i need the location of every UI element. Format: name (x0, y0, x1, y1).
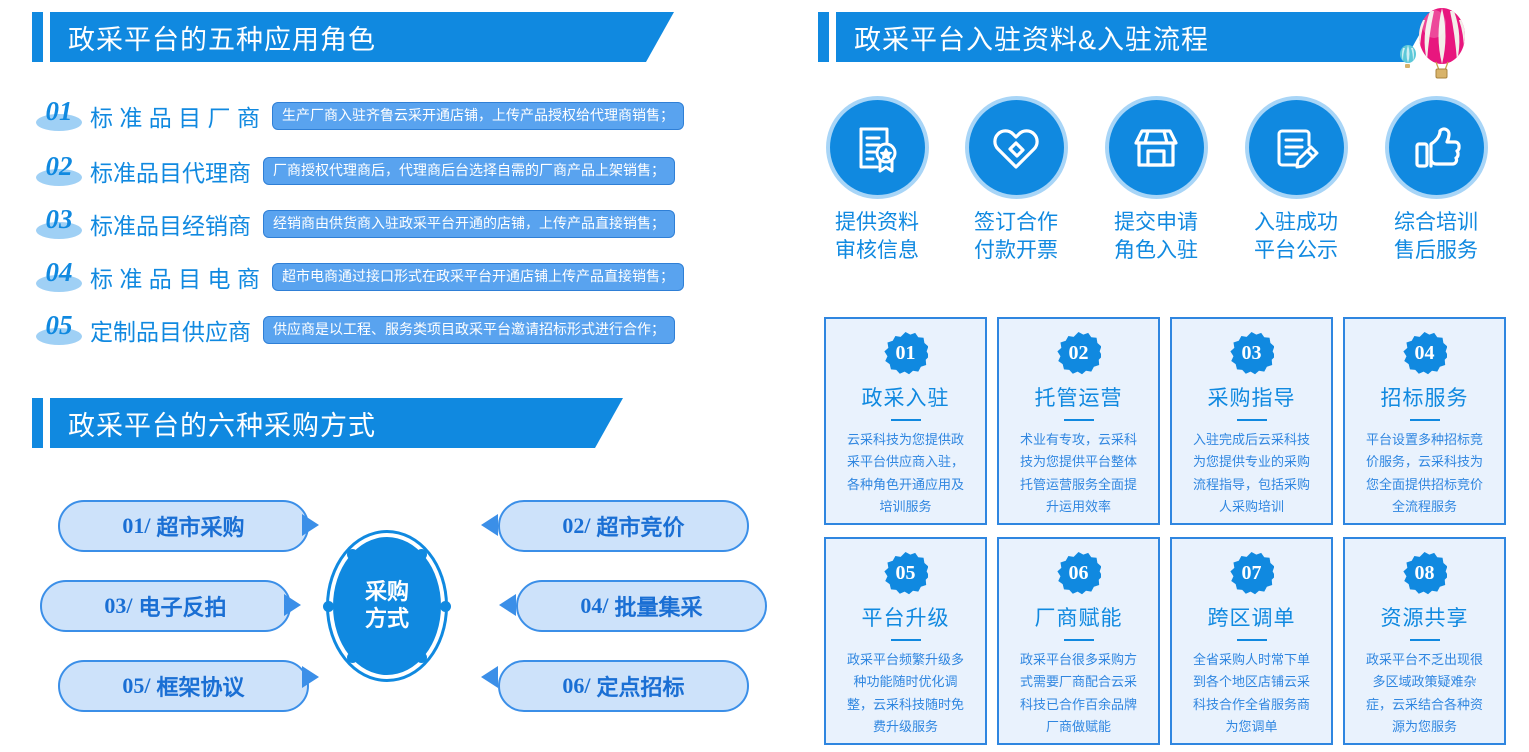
card-number: 06 (1069, 563, 1089, 583)
hub-label-line2: 方式 (365, 606, 409, 633)
card-number: 07 (1242, 563, 1262, 583)
process-caption-line2: 审核信息 (827, 237, 927, 265)
process-step-5[interactable]: 综合培训 售后服务 (1386, 100, 1486, 264)
method-number: 04/ (580, 593, 608, 619)
card-divider (1064, 639, 1094, 641)
method-label: 批量集采 (615, 590, 703, 622)
process-step-2[interactable]: 签订合作 付款开票 (966, 100, 1066, 264)
section-banner-roles: 政采平台的五种应用角色 (32, 12, 674, 62)
service-card[interactable]: 02 托管运营 术业有专攻，云采科技为您提供平台整体托管运营服务全面提升运用效率 (997, 317, 1160, 525)
role-number: 04 (32, 258, 86, 296)
card-divider (1410, 639, 1440, 641)
document-edit-icon (1249, 100, 1344, 195)
service-card[interactable]: 05 平台升级 政采平台频繁升级多种功能随时优化调整，云采科技随时免费升级服务 (824, 537, 987, 745)
card-title: 政采入驻 (862, 382, 950, 412)
role-number: 01 (32, 97, 86, 135)
card-number: 05 (896, 563, 916, 583)
card-badge: 06 (1057, 552, 1101, 596)
card-badge: 05 (884, 552, 928, 596)
method-pill-04[interactable]: 04/ 批量集采 (516, 580, 767, 632)
method-pill-02[interactable]: 02/ 超市竞价 (498, 500, 749, 552)
role-description-pill: 生产厂商入驻齐鲁云采开通店铺，上传产品授权给代理商销售； (272, 102, 684, 129)
method-label: 定点招标 (597, 670, 685, 702)
role-number-text: 01 (32, 96, 86, 127)
method-label: 电子反拍 (139, 590, 227, 622)
thumbs-up-icon (1389, 100, 1484, 195)
role-description-pill: 厂商授权代理商后，代理商后台选择自需的厂商产品上架销售； (263, 157, 675, 184)
role-name: 定制品目供应商 (90, 313, 251, 347)
banner-gap (43, 398, 50, 448)
role-number: 03 (32, 205, 86, 243)
method-number: 05/ (122, 673, 150, 699)
card-badge: 02 (1057, 332, 1101, 376)
process-step-caption: 签订合作 付款开票 (966, 209, 1066, 264)
role-row: 05 定制品目供应商 供应商是以工程、服务类项目政采平台邀请招标形式进行合作； (32, 311, 675, 349)
role-name: 标 准 品 目 电 商 (90, 260, 260, 294)
method-number: 03/ (104, 593, 132, 619)
role-number-text: 04 (32, 257, 86, 288)
process-caption-line2: 角色入驻 (1106, 237, 1206, 265)
method-label: 超市竞价 (597, 510, 685, 542)
service-card[interactable]: 07 跨区调单 全省采购人时常下单到各个地区店铺云采科技合作全省服务商为您调单 (1170, 537, 1333, 745)
role-row: 01 标 准 品 目 厂 商 生产厂商入驻齐鲁云采开通店铺，上传产品授权给代理商… (32, 97, 684, 135)
card-divider (1237, 419, 1267, 421)
card-number: 02 (1069, 343, 1089, 363)
method-beak-03 (284, 594, 301, 616)
infographic-page: 政采平台的五种应用角色 01 标 准 品 目 厂 商 生产厂商入驻齐鲁云采开通店… (0, 0, 1529, 752)
method-number: 01/ (122, 513, 150, 539)
card-title: 平台升级 (862, 602, 950, 632)
card-description: 全省采购人时常下单到各个地区店铺云采科技合作全省服务商为您调单 (1188, 649, 1316, 738)
card-badge: 08 (1403, 552, 1447, 596)
service-card[interactable]: 01 政采入驻 云采科技为您提供政采平台供应商入驻，各种角色开通应用及培训服务 (824, 317, 987, 525)
card-badge: 04 (1403, 332, 1447, 376)
card-description: 入驻完成后云采科技为您提供专业的采购流程指导，包括采购人采购培训 (1188, 429, 1316, 518)
method-pill-06[interactable]: 06/ 定点招标 (498, 660, 749, 712)
card-number: 01 (896, 343, 916, 363)
certificate-icon (830, 100, 925, 195)
card-title: 采购指导 (1208, 382, 1296, 412)
card-number: 08 (1415, 563, 1435, 583)
hub-label: 采购 方式 (329, 533, 445, 679)
process-step-caption: 入驻成功 平台公示 (1246, 209, 1346, 264)
role-number-text: 05 (32, 310, 86, 341)
card-badge: 03 (1230, 332, 1274, 376)
card-title: 厂商赋能 (1035, 602, 1123, 632)
banner-body: 政采平台的六种采购方式 (50, 398, 623, 448)
process-step-4[interactable]: 入驻成功 平台公示 (1246, 100, 1346, 264)
process-step-caption: 提供资料 审核信息 (827, 209, 927, 264)
card-description: 平台设置多种招标竞价服务，云采科技为您全面提供招标竞价全流程服务 (1361, 429, 1489, 518)
section-title-roles: 政采平台的五种应用角色 (68, 18, 376, 57)
role-description-pill: 超市电商通过接口形式在政采平台开通店铺上传产品直接销售； (272, 263, 684, 290)
card-number: 04 (1415, 343, 1435, 363)
role-name: 标 准 品 目 厂 商 (90, 99, 260, 133)
hub-label-line1: 采购 (365, 579, 409, 606)
section-title-methods: 政采平台的六种采购方式 (68, 404, 376, 443)
card-title: 托管运营 (1035, 382, 1123, 412)
process-caption-line2: 平台公示 (1246, 237, 1346, 265)
card-title: 跨区调单 (1208, 602, 1296, 632)
process-caption-line2: 付款开票 (966, 237, 1066, 265)
process-step-3[interactable]: 提交申请 角色入驻 (1106, 100, 1206, 264)
card-description: 术业有专攻，云采科技为您提供平台整体托管运营服务全面提升运用效率 (1015, 429, 1143, 518)
card-badge: 01 (884, 332, 928, 376)
card-title: 招标服务 (1381, 382, 1469, 412)
card-divider (891, 639, 921, 641)
card-divider (891, 419, 921, 421)
process-caption-line1: 综合培训 (1386, 209, 1486, 237)
method-pill-01[interactable]: 01/ 超市采购 (58, 500, 309, 552)
banner-body: 政采平台的五种应用角色 (50, 12, 674, 62)
banner-tick (32, 398, 43, 448)
process-caption-line2: 售后服务 (1386, 237, 1486, 265)
process-step-caption: 综合培训 售后服务 (1386, 209, 1486, 264)
role-number-text: 02 (32, 151, 86, 182)
card-badge: 07 (1230, 552, 1274, 596)
card-description: 政采平台不乏出现很多区域政策疑难杂症，云采结合各种资源为您服务 (1361, 649, 1489, 738)
card-divider (1064, 419, 1094, 421)
card-divider (1410, 419, 1440, 421)
process-step-caption: 提交申请 角色入驻 (1106, 209, 1206, 264)
section-banner-methods: 政采平台的六种采购方式 (32, 398, 623, 448)
card-description: 政采平台很多采购方式需要厂商配合云采科技已合作百余品牌厂商做赋能 (1015, 649, 1143, 738)
method-pill-03[interactable]: 03/ 电子反拍 (40, 580, 291, 632)
role-number: 05 (32, 311, 86, 349)
role-name: 标准品目代理商 (90, 154, 251, 188)
method-label: 框架协议 (157, 670, 245, 702)
hot-air-balloon-icon (1392, 6, 1482, 84)
banner-body: 政采平台入驻资料&入驻流程 (836, 12, 1432, 62)
method-number: 06/ (562, 673, 590, 699)
process-step-1[interactable]: 提供资料 审核信息 (827, 100, 927, 264)
card-description: 政采平台频繁升级多种功能随时优化调整，云采科技随时免费升级服务 (842, 649, 970, 738)
role-row: 02 标准品目代理商 厂商授权代理商后，代理商后台选择自需的厂商产品上架销售； (32, 152, 675, 190)
method-label: 超市采购 (157, 510, 245, 542)
role-number-text: 03 (32, 204, 86, 235)
service-card[interactable]: 08 资源共享 政采平台不乏出现很多区域政策疑难杂症，云采结合各种资源为您服务 (1343, 537, 1506, 745)
service-card[interactable]: 03 采购指导 入驻完成后云采科技为您提供专业的采购流程指导，包括采购人采购培训 (1170, 317, 1333, 525)
card-title: 资源共享 (1381, 602, 1469, 632)
banner-gap (829, 12, 836, 62)
role-number: 02 (32, 152, 86, 190)
section-banner-onboarding: 政采平台入驻资料&入驻流程 (818, 12, 1432, 62)
method-beak-01 (302, 514, 319, 536)
banner-tick (818, 12, 829, 62)
process-caption-line1: 签订合作 (966, 209, 1066, 237)
role-row: 04 标 准 品 目 电 商 超市电商通过接口形式在政采平台开通店铺上传产品直接… (32, 258, 684, 296)
card-divider (1237, 639, 1267, 641)
banner-gap (43, 12, 50, 62)
role-description-pill: 经销商由供货商入驻政采平台开通的店铺，上传产品直接销售； (263, 210, 675, 237)
process-caption-line1: 提供资料 (827, 209, 927, 237)
process-caption-line1: 提交申请 (1106, 209, 1206, 237)
procurement-methods-diagram: 01/ 超市采购 02/ 超市竞价 03/ 电子反拍 04/ 批量集采 05/ … (40, 488, 780, 720)
method-number: 02/ (562, 513, 590, 539)
service-card[interactable]: 04 招标服务 平台设置多种招标竞价服务，云采科技为您全面提供招标竞价全流程服务 (1343, 317, 1506, 525)
card-description: 云采科技为您提供政采平台供应商入驻，各种角色开通应用及培训服务 (842, 429, 970, 518)
method-beak-02 (481, 514, 498, 536)
section-title-onboarding: 政采平台入驻资料&入驻流程 (854, 18, 1209, 57)
role-description-pill: 供应商是以工程、服务类项目政采平台邀请招标形式进行合作； (263, 316, 675, 343)
card-number: 03 (1242, 343, 1262, 363)
storefront-icon (1109, 100, 1204, 195)
method-beak-06 (481, 666, 498, 688)
method-pill-05[interactable]: 05/ 框架协议 (58, 660, 309, 712)
banner-tick (32, 12, 43, 62)
role-name: 标准品目经销商 (90, 207, 251, 241)
method-beak-04 (499, 594, 516, 616)
role-row: 03 标准品目经销商 经销商由供货商入驻政采平台开通的店铺，上传产品直接销售； (32, 205, 675, 243)
process-caption-line1: 入驻成功 (1246, 209, 1346, 237)
service-card[interactable]: 06 厂商赋能 政采平台很多采购方式需要厂商配合云采科技已合作百余品牌厂商做赋能 (997, 537, 1160, 745)
handshake-heart-icon (969, 100, 1064, 195)
method-beak-05 (302, 666, 319, 688)
procurement-hub: 采购 方式 (329, 533, 445, 679)
